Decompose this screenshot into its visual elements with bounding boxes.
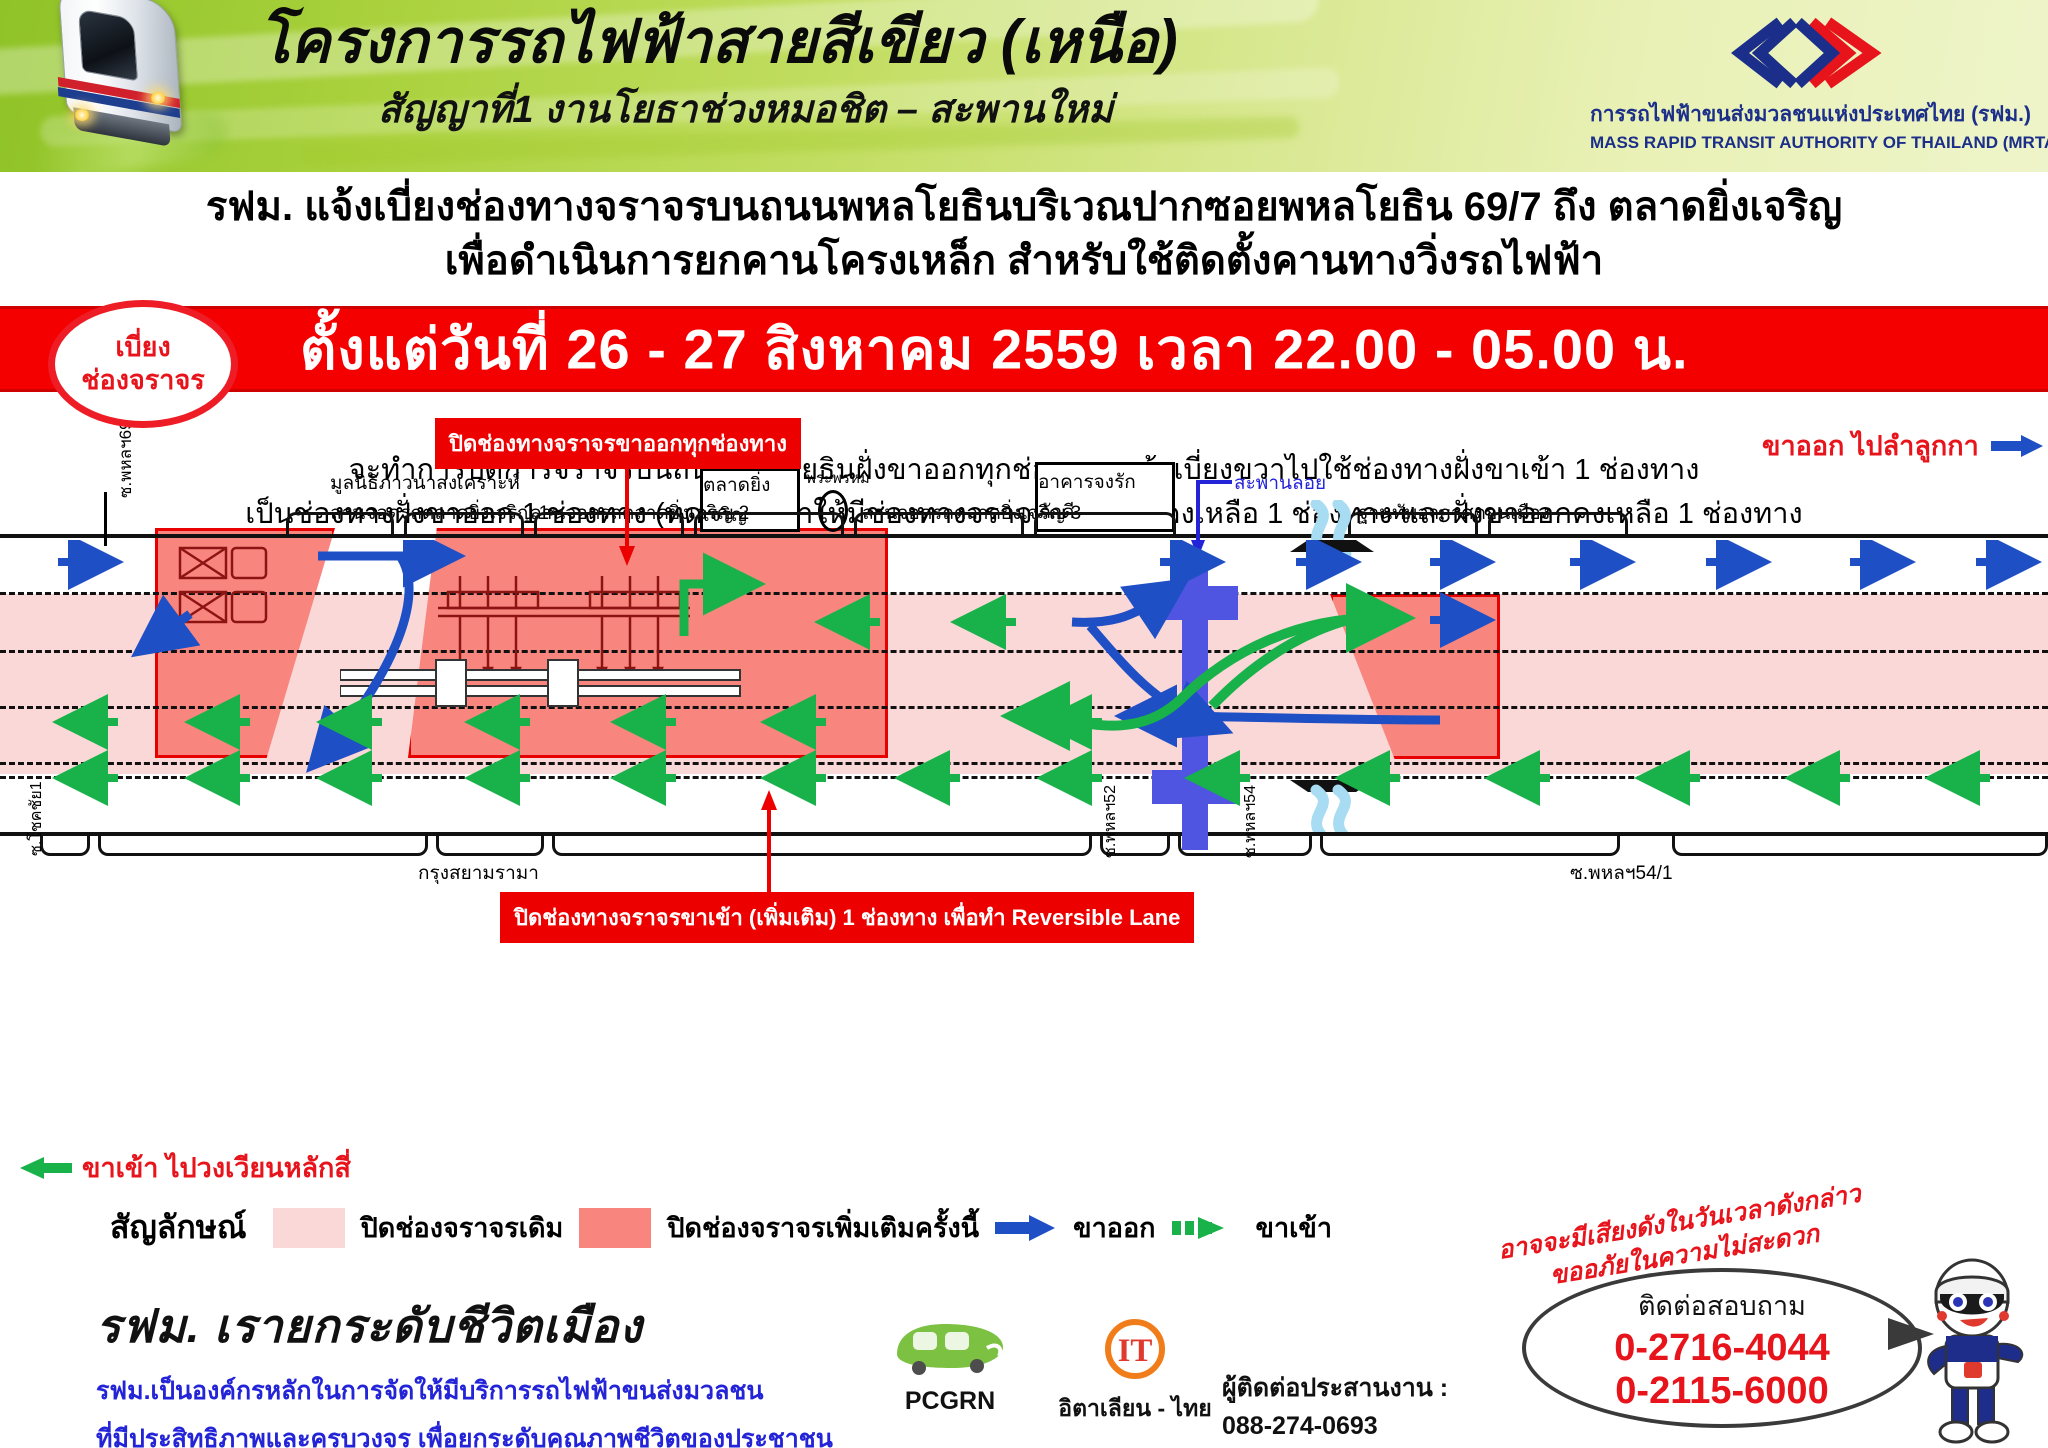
- date-time-banner: ตั้งแต่วันที่ 26 - 27 สิงหาคม 2559 เวลา …: [0, 306, 2048, 392]
- brace-top-6: [1034, 512, 1176, 534]
- project-subtitle: สัญญาที่1 งานโยธาช่วงหมอชิต – สะพานใหม่: [378, 78, 1478, 139]
- footbridge-top-deck: [1152, 586, 1238, 620]
- announcement-line-1: รฟม. แจ้งเบี่ยงช่องทางจราจรบนถนนพหลโยธิน…: [0, 182, 2048, 232]
- title-block: โครงการรถไฟฟ้าสายสีเขียว (เหนือ) สัญญาที…: [258, 10, 1478, 139]
- lane-dash-4: [0, 762, 2048, 765]
- description-line-1: จะทำการปิดการจราจรบนถนนพหลโยธินฝั่งขาออก…: [0, 448, 2048, 492]
- lane-dash-1: [0, 592, 2048, 595]
- legend-row: สัญลักษณ์ ปิดช่องจราจรเดิม ปิดช่องจราจรเ…: [110, 1202, 1332, 1253]
- brace-top-8: [1488, 512, 1628, 534]
- footer-slogan-block: รฟม. เรายกระดับชีวิตเมือง รฟม.เป็นองค์กร…: [96, 1290, 833, 1448]
- poster-root: โครงการรถไฟฟ้าสายสีเขียว (เหนือ) สัญญาที…: [0, 0, 2048, 1448]
- italthai-logo-icon: IT: [1090, 1318, 1180, 1380]
- project-title: โครงการรถไฟฟ้าสายสีเขียว (เหนือ): [258, 10, 1478, 74]
- brace-bottom-2: [98, 834, 428, 856]
- legend-title: สัญลักษณ์: [110, 1202, 247, 1253]
- label-foundation: มูลนิธิภาวนาสงเคราะห์: [330, 468, 520, 498]
- footbridge-bottom-deck: [1152, 770, 1238, 804]
- brace-top-3: [534, 512, 684, 534]
- beam-truck-graphic: [340, 656, 760, 716]
- label-soi-phahol-54-1: ซ.พหลฯ54/1: [1570, 858, 1673, 888]
- label-soi-phahol-52: ซ.พหลฯ52: [1098, 785, 1123, 858]
- brace-top-2: [404, 512, 524, 534]
- announcement-block: รฟม. แจ้งเบี่ยงช่องทางจราจรบนถนนพหลโยธิน…: [0, 182, 2048, 286]
- legend-blue-arrow-icon: [995, 1213, 1057, 1243]
- footbridge-label-leader: [1196, 480, 1232, 484]
- legend-green-arrow-icon: [1172, 1213, 1240, 1243]
- contact-bubble: ติดต่อสอบถาม 0-2716-4044 0-2115-6000: [1522, 1268, 1922, 1428]
- traffic-diagram: ตลาดยิ่งเจริญ พระพรหม อาคารจงรักภักดี มู…: [0, 540, 2048, 1140]
- italthai-logo-block: IT อิตาเลียน - ไทย: [1040, 1318, 1230, 1427]
- mrta-name-english: MASS RAPID TRANSIT AUTHORITY OF THAILAND…: [1590, 133, 2030, 153]
- legend-label-new-closure: ปิดช่องจราจรเพิ่มเติมครั้งนี้: [667, 1206, 979, 1249]
- pcgrn-name: PCGRN: [860, 1387, 1040, 1416]
- soi-tick-69-7: [104, 492, 107, 546]
- direction-outbound-text: ขาออก ไปลำลูกกา: [1762, 424, 1979, 467]
- canal-icon-bottom: [1286, 772, 1376, 832]
- callout-close-inbound: ปิดช่องทางจราจรขาเข้า (เพิ่มเติม) 1 ช่อง…: [500, 892, 1194, 943]
- label-soi-chokchai-1: ซ.โชคชัย1: [24, 781, 49, 856]
- coordinator-label: ผู้ติดต่อประสานงาน :: [1222, 1368, 1448, 1408]
- footer-slogan-line-1: รฟม.เป็นองค์กรหลักในการจัดให้มีบริการรถไ…: [96, 1371, 833, 1411]
- badge-line-1: เบี่ยง: [115, 331, 170, 364]
- brace-bottom-3: [436, 834, 544, 856]
- brace-top-4: [694, 512, 844, 534]
- green-arrow-icon-left: [14, 1155, 72, 1181]
- callout-bottom-arrow: [760, 788, 778, 894]
- label-soi-phahol-54: ซ.พหลฯ54: [1238, 785, 1263, 858]
- brace-top-1: [286, 512, 394, 534]
- road-edge-top: [0, 534, 2048, 538]
- contact-label: ติดต่อสอบถาม: [1638, 1284, 1806, 1327]
- badge-line-2: ช่องจราจร: [81, 364, 205, 397]
- italthai-name: อิตาเลียน - ไทย: [1040, 1391, 1230, 1427]
- footer-slogan-line-2: ที่มีประสิทธิภาพและครบวงจร เพื่อยกระดับค…: [96, 1419, 833, 1448]
- label-krungsiam-rama: กรุงสยามรามา: [418, 858, 539, 888]
- header-banner: โครงการรถไฟฟ้าสายสีเขียว (เหนือ) สัญญาที…: [0, 0, 2048, 172]
- truck-icons: [178, 544, 298, 648]
- label-footbridge: สะพานลอย: [1234, 468, 1326, 498]
- legend-label-outbound: ขาออก: [1073, 1206, 1155, 1249]
- legend-swatch-new-closure: [579, 1208, 651, 1248]
- pcgrn-logo-block: PCGRN: [860, 1318, 1040, 1416]
- label-phra-phrom: พระพรหม: [806, 466, 870, 490]
- contact-bubble-tail: [1888, 1318, 1934, 1350]
- canal-icon-top: [1286, 500, 1376, 560]
- mrta-logo-block: การรถไฟฟ้าขนส่งมวลชนแห่งประเทศไทย (รฟม.)…: [1590, 14, 2030, 153]
- blue-arrow-icon: [1991, 433, 2045, 459]
- legend-swatch-old-closure: [273, 1208, 345, 1248]
- coordinator-phone: 088-274-0693: [1222, 1412, 1378, 1441]
- contact-phone-1[interactable]: 0-2716-4044: [1614, 1327, 1830, 1370]
- train-illustration: [18, 0, 258, 172]
- mascot-illustration: [1902, 1258, 2042, 1448]
- mrta-name-thai: การรถไฟฟ้าขนส่งมวลชนแห่งประเทศไทย (รฟม.): [1590, 98, 2030, 131]
- lane-dash-2: [0, 650, 2048, 653]
- brace-bottom-4: [552, 834, 1092, 856]
- footer-slogan-main: รฟม. เรายกระดับชีวิตเมือง: [96, 1290, 833, 1363]
- train-headlight-right: [150, 92, 166, 104]
- lane-diversion-badge: เบี่ยง ช่องจราจร: [48, 300, 238, 428]
- direction-outbound-legend: ขาออก ไปลำลูกกา: [1762, 424, 2045, 467]
- train-headlight-left: [74, 109, 90, 121]
- footbridge-pointer-arrow: [1190, 482, 1206, 562]
- brace-top-5: [854, 512, 1024, 534]
- legend-label-old-closure: ปิดช่องจราจรเดิม: [361, 1206, 564, 1249]
- callout-top-arrow: [618, 462, 636, 570]
- direction-inbound-text: ขาเข้า ไปวงเวียนหลักสี่: [82, 1146, 351, 1189]
- contact-phone-2[interactable]: 0-2115-6000: [1615, 1370, 1828, 1413]
- brace-bottom-7: [1320, 834, 1620, 856]
- brace-bottom-8: [1672, 834, 2048, 856]
- mrta-logo-icon: [1720, 14, 1900, 92]
- lane-dash-5: [0, 776, 2048, 779]
- lane-dash-3: [0, 706, 2048, 709]
- legend-label-inbound: ขาเข้า: [1256, 1206, 1332, 1249]
- svg-text:IT: IT: [1118, 1333, 1153, 1369]
- date-time-text: ตั้งแต่วันที่ 26 - 27 สิงหาคม 2559 เวลา …: [300, 305, 1689, 394]
- direction-inbound-legend: ขาเข้า ไปวงเวียนหลักสี่: [14, 1146, 351, 1189]
- announcement-line-2: เพื่อดำเนินการยกคานโครงเหล็ก สำหรับใช้ติ…: [0, 236, 2048, 286]
- pcgrn-logo-icon: [891, 1318, 1009, 1376]
